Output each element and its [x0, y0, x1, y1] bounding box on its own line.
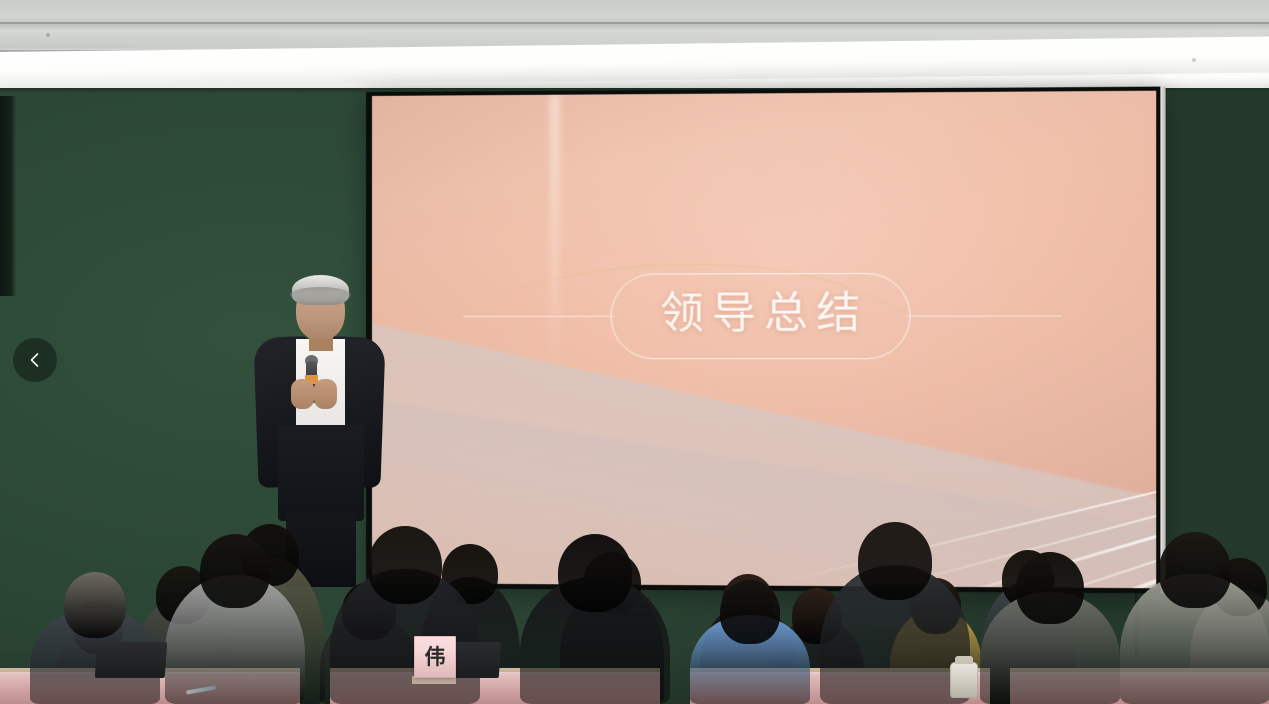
audience-member-head [64, 572, 126, 638]
audience-member-head [200, 534, 270, 608]
audience-member [820, 522, 970, 704]
audience-member [30, 552, 160, 704]
audience-member-head [1159, 532, 1231, 608]
audience-member [520, 530, 670, 704]
slide-title-rule-right [907, 316, 1062, 317]
audience-member [690, 554, 810, 704]
photo-viewer: 领导总结 [0, 0, 1269, 704]
audience-member-head [858, 522, 932, 600]
previous-photo-button[interactable] [13, 338, 57, 382]
ceiling-light-strip [0, 36, 1269, 88]
ceiling-fixture-screw [46, 33, 50, 37]
bottle-cap [955, 656, 973, 664]
audience-member [1120, 526, 1269, 704]
audience: 伟 [0, 444, 1269, 704]
audience-member [980, 538, 1120, 704]
audience-member [165, 534, 305, 704]
speaker-hand-right [314, 379, 337, 409]
ceiling-fixture-screw [1192, 58, 1196, 62]
name-placard-text: 伟 [425, 647, 446, 668]
speaker-hair [292, 275, 349, 305]
water-bottle [950, 662, 978, 698]
ceiling [0, 0, 1269, 96]
speaker-hand-left [291, 379, 314, 409]
slide-title: 领导总结 [652, 292, 868, 336]
name-placard: 伟 [414, 636, 456, 678]
audience-member-head [558, 534, 632, 612]
audience-member-head [1016, 552, 1084, 624]
chevron-left-icon [26, 351, 44, 369]
audience-member-head [368, 526, 442, 604]
slide-title-group: 领导总结 [372, 273, 1156, 360]
ceiling-rail [0, 22, 1269, 24]
wall-shadow-left [0, 96, 16, 296]
slide-title-pill: 领导总结 [610, 273, 910, 359]
laptop [95, 642, 168, 678]
audience-member-head [720, 580, 780, 644]
slide-title-rule-left [463, 316, 614, 317]
